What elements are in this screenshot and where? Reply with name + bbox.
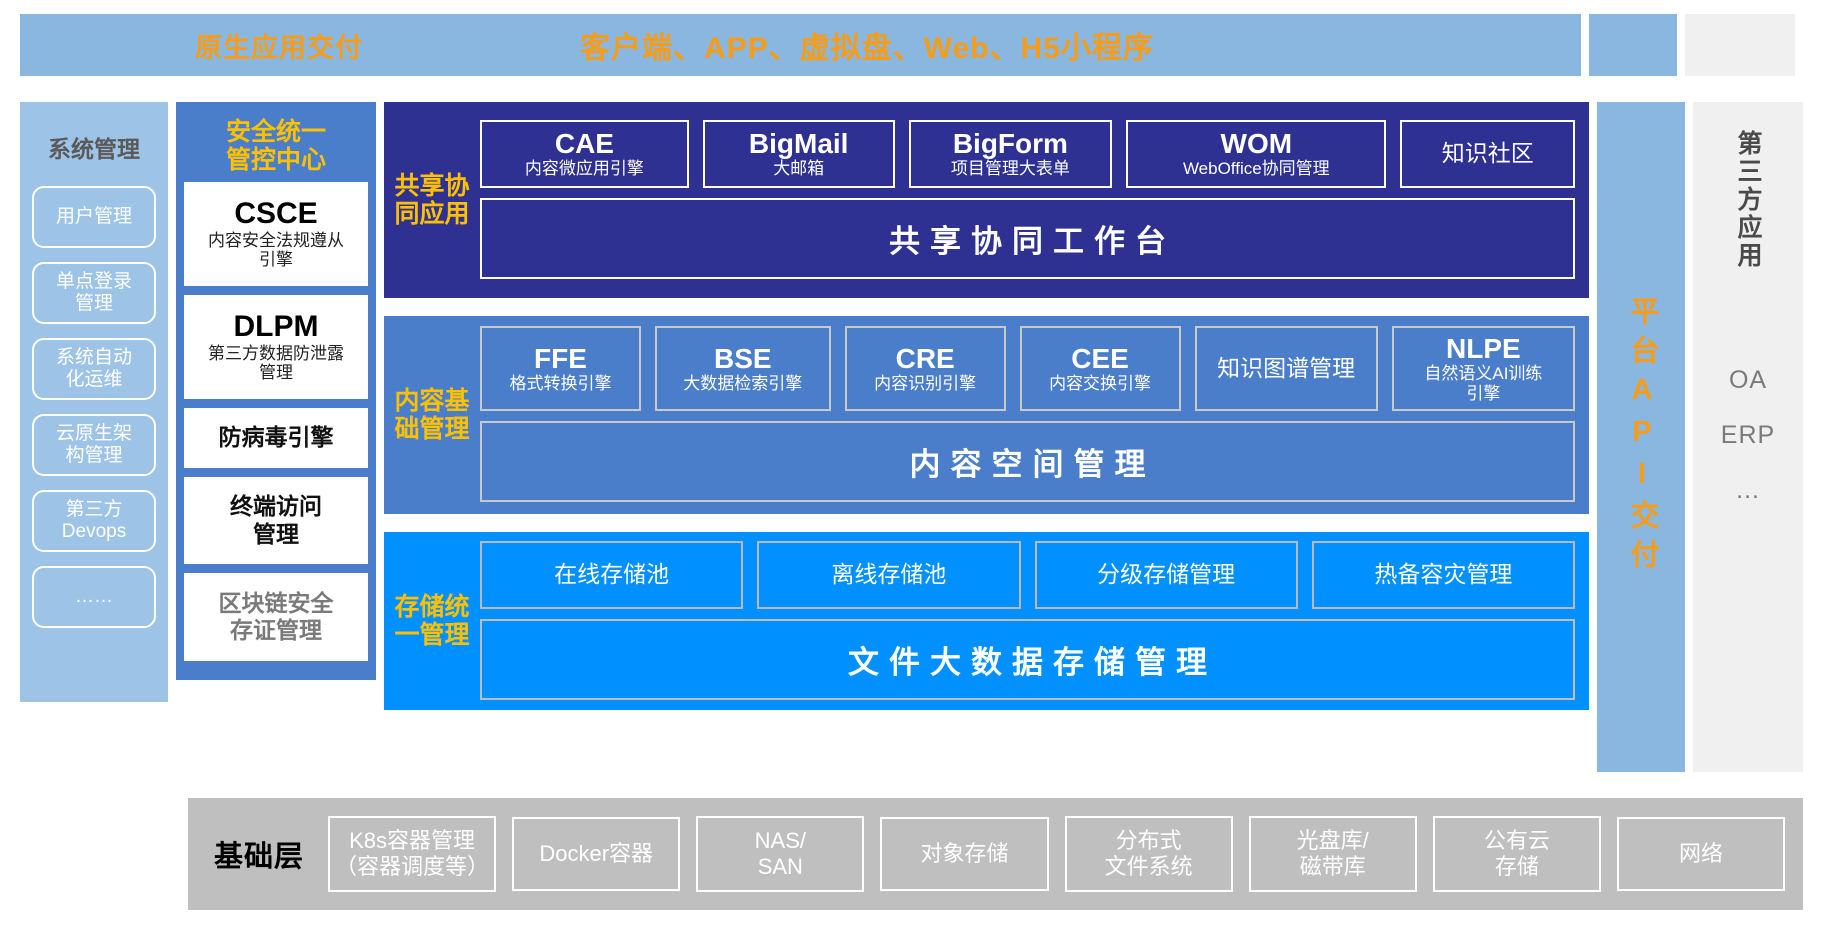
- cee-code: CEE: [1071, 344, 1129, 373]
- chip-nlpe[interactable]: NLPE 自然语义AI训练引擎: [1392, 326, 1575, 411]
- content-foundation-layer: 内容基础管理 FFE 格式转换引擎 BSE 大数据检索引擎 CRE 内容识别引擎: [384, 316, 1589, 514]
- bse-desc: 大数据检索引擎: [683, 374, 802, 393]
- wom-code: WOM: [1221, 129, 1293, 158]
- cae-desc: 内容微应用引擎: [525, 159, 644, 178]
- chip-bse[interactable]: BSE 大数据检索引擎: [655, 326, 831, 411]
- architecture-body: 系统管理 用户管理 单点登录管理 系统自动化运维 云原生架构管理 第三方Devo…: [20, 102, 1803, 772]
- system-management-title: 系统管理: [48, 130, 140, 164]
- top-delivery-row: 原生应用交付 客户端、APP、虚拟盘、Web、H5小程序: [20, 14, 1803, 76]
- csce-code: CSCE: [188, 198, 364, 230]
- third-party-item-erp[interactable]: ERP: [1721, 421, 1775, 450]
- native-delivery-label: 原生应用交付: [195, 26, 363, 65]
- platform-api-label: 平台API交付: [1625, 296, 1657, 578]
- offline-storage-pool-label: 离线存储池: [831, 561, 946, 587]
- storage-chip-row: 在线存储池 离线存储池 分级存储管理 热备容灾管理: [480, 541, 1575, 609]
- sys-item-more[interactable]: ……: [32, 566, 156, 628]
- infra-chip-optical-tape-library[interactable]: 光盘库/磁带库: [1249, 816, 1417, 893]
- content-space-management-bar[interactable]: 内容空间管理: [480, 421, 1575, 502]
- security-card-antivirus[interactable]: 防病毒引擎: [184, 408, 368, 468]
- shared-collaboration-title: 共享协同应用: [384, 102, 480, 298]
- nlpe-code: NLPE: [1446, 334, 1521, 363]
- storage-unified-title: 存储统一管理: [384, 532, 480, 710]
- sys-item-automation-ops[interactable]: 系统自动化运维: [32, 338, 156, 400]
- third-party-item-oa[interactable]: OA: [1729, 366, 1767, 395]
- capability-layers: 共享协同应用 CAE 内容微应用引擎 BigMail 大邮箱 BigForm 项…: [384, 102, 1589, 772]
- third-party-title: 第三方应用: [1730, 130, 1766, 270]
- ffe-desc: 格式转换引擎: [509, 374, 611, 393]
- shared-collaboration-layer: 共享协同应用 CAE 内容微应用引擎 BigMail 大邮箱 BigForm 项…: [384, 102, 1589, 298]
- security-card-terminal-access[interactable]: 终端访问管理: [184, 477, 368, 565]
- knowledge-community-label: 知识社区: [1442, 140, 1534, 166]
- infrastructure-title: 基础层: [214, 833, 304, 875]
- content-foundation-chip-row: FFE 格式转换引擎 BSE 大数据检索引擎 CRE 内容识别引擎 CEE 内容…: [480, 326, 1575, 411]
- chip-knowledge-graph[interactable]: 知识图谱管理: [1195, 326, 1378, 411]
- chip-wom[interactable]: WOM WebOffice协同管理: [1126, 120, 1386, 188]
- delivery-channels-label: 客户端、APP、虚拟盘、Web、H5小程序: [580, 23, 1154, 67]
- shared-collaboration-workbench-bar[interactable]: 共享协同工作台: [480, 198, 1575, 279]
- infrastructure-layer: 基础层 K8s容器管理（容器调度等） Docker容器 NAS/SAN 对象存储…: [188, 798, 1803, 910]
- tiered-storage-label: 分级存储管理: [1097, 561, 1235, 587]
- wom-desc: WebOffice协同管理: [1183, 159, 1330, 178]
- knowledge-graph-label: 知识图谱管理: [1217, 355, 1355, 381]
- infra-chip-distributed-fs[interactable]: 分布式文件系统: [1065, 816, 1233, 893]
- security-card-dlpm[interactable]: DLPM 第三方数据防泄露管理: [184, 295, 368, 399]
- chip-tiered-storage[interactable]: 分级存储管理: [1035, 541, 1298, 609]
- shared-collaboration-chip-row: CAE 内容微应用引擎 BigMail 大邮箱 BigForm 项目管理大表单 …: [480, 120, 1575, 188]
- csce-desc: 内容安全法规遵从引擎: [188, 231, 364, 270]
- dlpm-code: DLPM: [188, 311, 364, 343]
- bse-code: BSE: [714, 344, 772, 373]
- hot-standby-dr-label: 热备容灾管理: [1374, 561, 1512, 587]
- ffe-code: FFE: [534, 344, 587, 373]
- chip-cae[interactable]: CAE 内容微应用引擎: [480, 120, 689, 188]
- third-party-app-column: 第三方应用 OA ERP …: [1693, 102, 1803, 772]
- dlpm-desc: 第三方数据防泄露管理: [188, 344, 364, 383]
- nlpe-desc: 自然语义AI训练引擎: [1424, 364, 1542, 403]
- blockchain-evidence-label: 区块链安全存证管理: [188, 590, 364, 645]
- infra-chip-object-storage[interactable]: 对象存储: [880, 817, 1048, 891]
- chip-hot-standby-dr[interactable]: 热备容灾管理: [1312, 541, 1575, 609]
- sys-item-sso-management[interactable]: 单点登录管理: [32, 262, 156, 324]
- infra-chip-network[interactable]: 网络: [1617, 817, 1785, 891]
- system-management-column: 系统管理 用户管理 单点登录管理 系统自动化运维 云原生架构管理 第三方Devo…: [20, 102, 168, 702]
- infra-chip-docker[interactable]: Docker容器: [512, 817, 680, 891]
- sys-item-user-management[interactable]: 用户管理: [32, 186, 156, 248]
- chip-knowledge-community[interactable]: 知识社区: [1400, 120, 1575, 188]
- api-column-top-stub: [1589, 14, 1677, 76]
- chip-online-storage-pool[interactable]: 在线存储池: [480, 541, 743, 609]
- cre-desc: 内容识别引擎: [874, 374, 976, 393]
- storage-unified-layer: 存储统一管理 在线存储池 离线存储池 分级存储管理 热备容灾管理: [384, 532, 1589, 710]
- security-center-title: 安全统一管控中心: [226, 118, 326, 174]
- chip-cee[interactable]: CEE 内容交换引擎: [1020, 326, 1181, 411]
- bigmail-desc: 大邮箱: [773, 159, 824, 178]
- antivirus-label: 防病毒引擎: [188, 424, 364, 452]
- content-foundation-title: 内容基础管理: [384, 316, 480, 514]
- cre-code: CRE: [896, 344, 955, 373]
- third-party-column-top-stub: [1685, 14, 1795, 76]
- security-card-csce[interactable]: CSCE 内容安全法规遵从引擎: [184, 182, 368, 286]
- chip-ffe[interactable]: FFE 格式转换引擎: [480, 326, 641, 411]
- cae-code: CAE: [555, 129, 614, 158]
- terminal-access-label: 终端访问管理: [188, 493, 364, 548]
- infra-chip-nas-san[interactable]: NAS/SAN: [696, 816, 864, 893]
- native-app-delivery-banner: 原生应用交付 客户端、APP、虚拟盘、Web、H5小程序: [20, 14, 1581, 76]
- bigmail-code: BigMail: [749, 129, 849, 158]
- bigform-code: BigForm: [953, 129, 1068, 158]
- cee-desc: 内容交换引擎: [1049, 374, 1151, 393]
- chip-offline-storage-pool[interactable]: 离线存储池: [757, 541, 1020, 609]
- infra-chip-k8s[interactable]: K8s容器管理（容器调度等）: [328, 816, 496, 893]
- sys-item-third-party-devops[interactable]: 第三方Devops: [32, 490, 156, 552]
- chip-bigform[interactable]: BigForm 项目管理大表单: [909, 120, 1113, 188]
- sys-item-cloud-native-arch[interactable]: 云原生架构管理: [32, 414, 156, 476]
- online-storage-pool-label: 在线存储池: [554, 561, 669, 587]
- chip-cre[interactable]: CRE 内容识别引擎: [845, 326, 1006, 411]
- file-bigdata-storage-bar[interactable]: 文件大数据存储管理: [480, 619, 1575, 700]
- infra-chip-public-cloud-storage[interactable]: 公有云存储: [1433, 816, 1601, 893]
- security-control-center-column: 安全统一管控中心 CSCE 内容安全法规遵从引擎 DLPM 第三方数据防泄露管理…: [176, 102, 376, 680]
- security-card-blockchain-evidence[interactable]: 区块链安全存证管理: [184, 573, 368, 661]
- bigform-desc: 项目管理大表单: [951, 159, 1070, 178]
- third-party-item-more: …: [1735, 476, 1761, 505]
- chip-bigmail[interactable]: BigMail 大邮箱: [703, 120, 895, 188]
- platform-api-delivery-column: 平台API交付: [1597, 102, 1685, 772]
